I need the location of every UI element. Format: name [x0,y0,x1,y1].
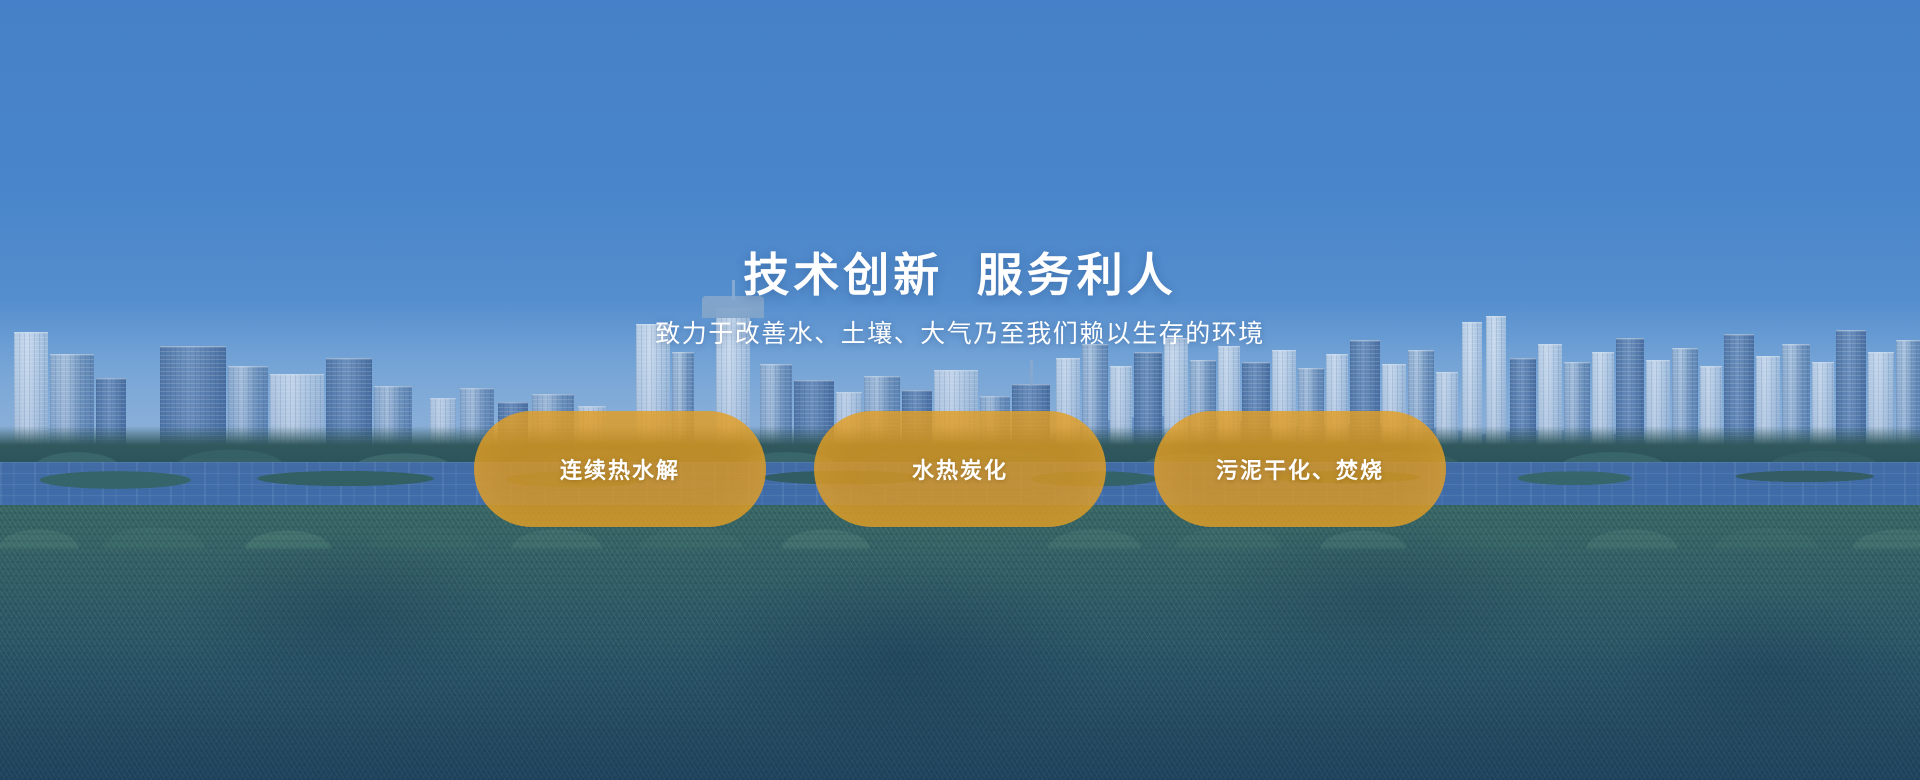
hero-banner: 技术创新 服务利人 致力于改善水、土壤、大气乃至我们赖以生存的环境 连续热水解 … [0,0,1920,780]
page-title: 技术创新 服务利人 [743,252,1177,298]
service-button-continuous-thermal-hydrolysis[interactable]: 连续热水解 [474,411,766,527]
service-button-row: 连续热水解 水热炭化 污泥干化、焚烧 [474,411,1446,527]
page-subtitle: 致力于改善水、土壤、大气乃至我们赖以生存的环境 [655,322,1265,347]
hero-content: 技术创新 服务利人 致力于改善水、土壤、大气乃至我们赖以生存的环境 连续热水解 … [0,0,1920,780]
service-button-sludge-drying-incineration[interactable]: 污泥干化、焚烧 [1154,411,1446,527]
service-button-hydrothermal-carbonization[interactable]: 水热炭化 [814,411,1106,527]
